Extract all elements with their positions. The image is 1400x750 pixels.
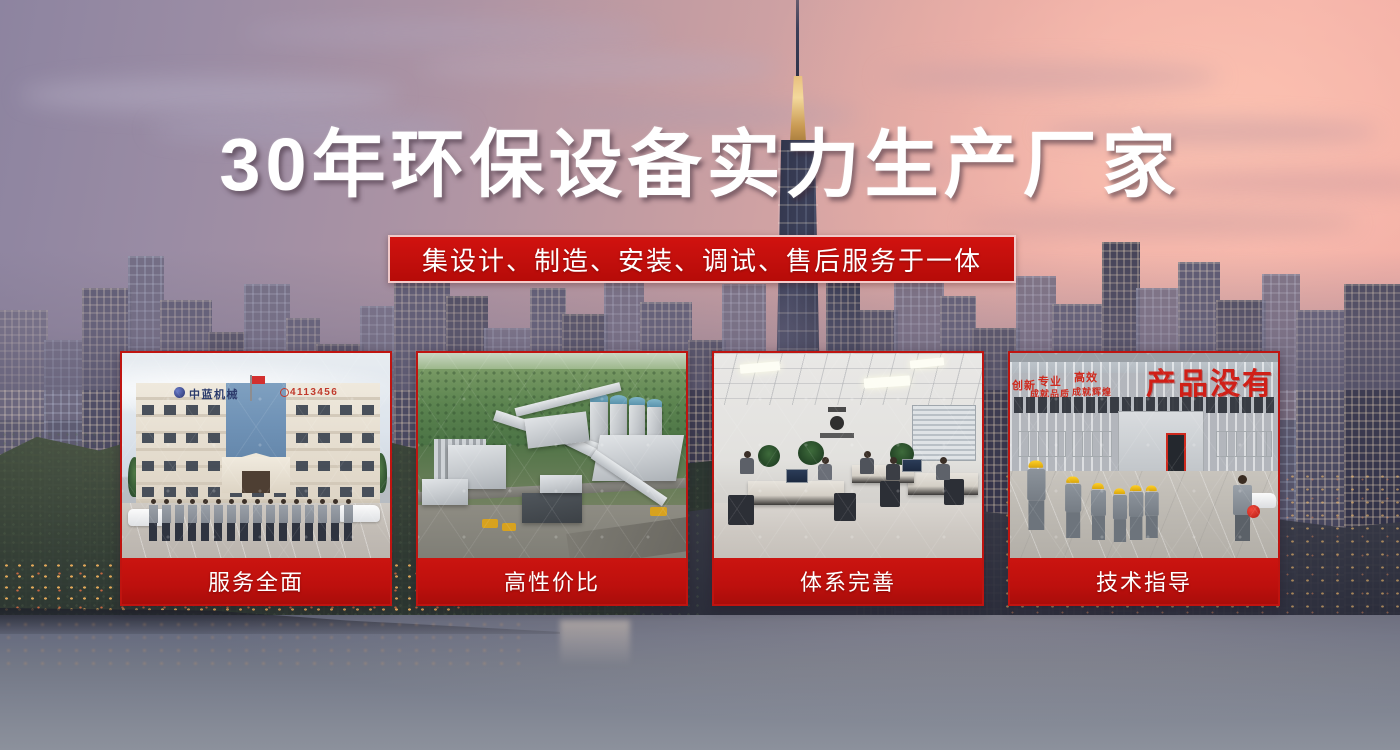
staff-lineup [148, 499, 368, 543]
promo-banner: 30年环保设备实力生产厂家 集设计、制造、安装、调试、售后服务于一体 [0, 0, 1400, 750]
subtitle-text: 集设计、制造、安装、调试、售后服务于一体 [422, 241, 982, 278]
worker-figure [1090, 483, 1106, 540]
worker-figure [1064, 476, 1081, 538]
signage-phone-text: 4113456 [290, 387, 338, 398]
factory-slogan: 高效 [1074, 369, 1098, 385]
company-logo-icon [174, 387, 185, 398]
subtitle-banner: 集设计、制造、安装、调试、售后服务于一体 [388, 235, 1016, 283]
worker-figure [1128, 485, 1143, 540]
feature-card-list: 中蓝机械 4113456 [120, 351, 1280, 606]
worker-figure [1026, 460, 1046, 530]
card-caption: 服务全面 [122, 558, 390, 604]
office-building-photo: 中蓝机械 4113456 [122, 353, 390, 558]
card-caption: 体系完善 [714, 558, 982, 604]
list-item[interactable]: 高性价比 [416, 351, 688, 606]
production-base-aerial-photo [418, 353, 686, 558]
list-item[interactable]: 产品没有 创新 专业 高效 成就品质 成就辉煌 [1008, 351, 1280, 606]
worker-figure [1144, 486, 1159, 538]
card-caption: 高性价比 [418, 558, 686, 604]
phone-icon [280, 388, 289, 397]
tower-spire [796, 0, 799, 82]
water-sheen [0, 615, 1400, 750]
window-blinds [912, 405, 976, 461]
red-helmet-icon [1247, 505, 1260, 518]
card-caption: 技术指导 [1010, 558, 1278, 604]
list-item[interactable]: 体系完善 [712, 351, 984, 606]
technical-guidance-photo: 产品没有 创新 专业 高效 成就品质 成就辉煌 [1010, 353, 1278, 558]
office-interior-photo [714, 353, 982, 558]
wall-decal-icon [814, 407, 860, 441]
page-title: 30年环保设备实力生产厂家 [0, 128, 1400, 202]
worker-figure [1112, 488, 1127, 542]
list-item[interactable]: 中蓝机械 4113456 [120, 351, 392, 606]
signage-brand-text: 中蓝机械 [189, 386, 239, 402]
